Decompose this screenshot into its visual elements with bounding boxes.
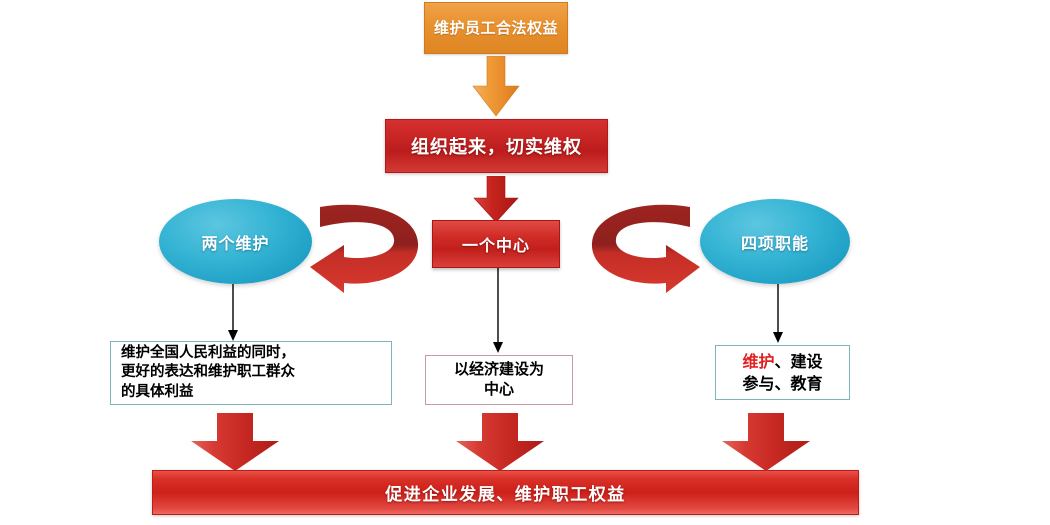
thin-arrow-down-left-icon [222, 284, 244, 344]
node-center-detail-line1: 以经济建设为 [454, 360, 544, 380]
node-left-detail-line3: 的具体利益 [121, 383, 295, 402]
curved-block-arrow-right-icon [586, 201, 702, 293]
node-left-detail-line1: 维护全国人民利益的同时， [121, 344, 295, 363]
red-block-arrow-down-bottom-right-icon [718, 413, 814, 473]
node-center-box-label: 一个中心 [462, 232, 530, 256]
node-top-goal-label: 维护员工合法权益 [434, 19, 558, 37]
node-action-banner-label: 组织起来，切实维权 [411, 133, 582, 159]
node-center-detail: 以经济建设为 中心 [425, 355, 573, 405]
flowchart-canvas: 维护员工合法权益 组织起来，切实维权 两个维护 [0, 0, 1050, 525]
node-left-detail: 维护全国人民利益的同时， 更好的表达和维护职工群众 的具体利益 [110, 341, 392, 405]
node-right-detail-line1-rest: 、建设 [775, 352, 823, 371]
node-center-box: 一个中心 [432, 220, 560, 268]
red-block-arrow-down-bottom-left-icon [187, 413, 283, 473]
node-right-detail: 维护、建设 参与、教育 [715, 345, 850, 400]
node-left-detail-line2: 更好的表达和维护职工群众 [121, 363, 295, 382]
red-block-arrow-down-bottom-center-icon [452, 413, 548, 473]
node-action-banner: 组织起来，切实维权 [385, 119, 608, 173]
node-right-ellipse-label: 四项职能 [741, 230, 809, 254]
node-right-detail-highlight: 维护 [742, 352, 774, 371]
node-top-goal: 维护员工合法权益 [424, 2, 568, 54]
thin-arrow-down-center-icon [487, 268, 509, 356]
node-left-ellipse: 两个维护 [159, 199, 312, 284]
node-left-ellipse-label: 两个维护 [201, 230, 269, 254]
curved-block-arrow-left-icon [308, 201, 424, 293]
node-outcome-banner: 促进企业发展、维护职工权益 [152, 470, 859, 515]
node-right-detail-line1: 维护、建设 [742, 351, 822, 372]
node-center-detail-line2: 中心 [454, 380, 544, 400]
node-right-ellipse: 四项职能 [700, 199, 850, 284]
red-block-arrow-down-to-center-icon [467, 176, 525, 224]
thin-arrow-down-right-icon [767, 284, 789, 346]
orange-block-arrow-down-icon [466, 56, 526, 118]
node-outcome-banner-label: 促进企业发展、维护职工权益 [385, 480, 626, 505]
node-right-detail-line2: 参与、教育 [742, 373, 822, 394]
